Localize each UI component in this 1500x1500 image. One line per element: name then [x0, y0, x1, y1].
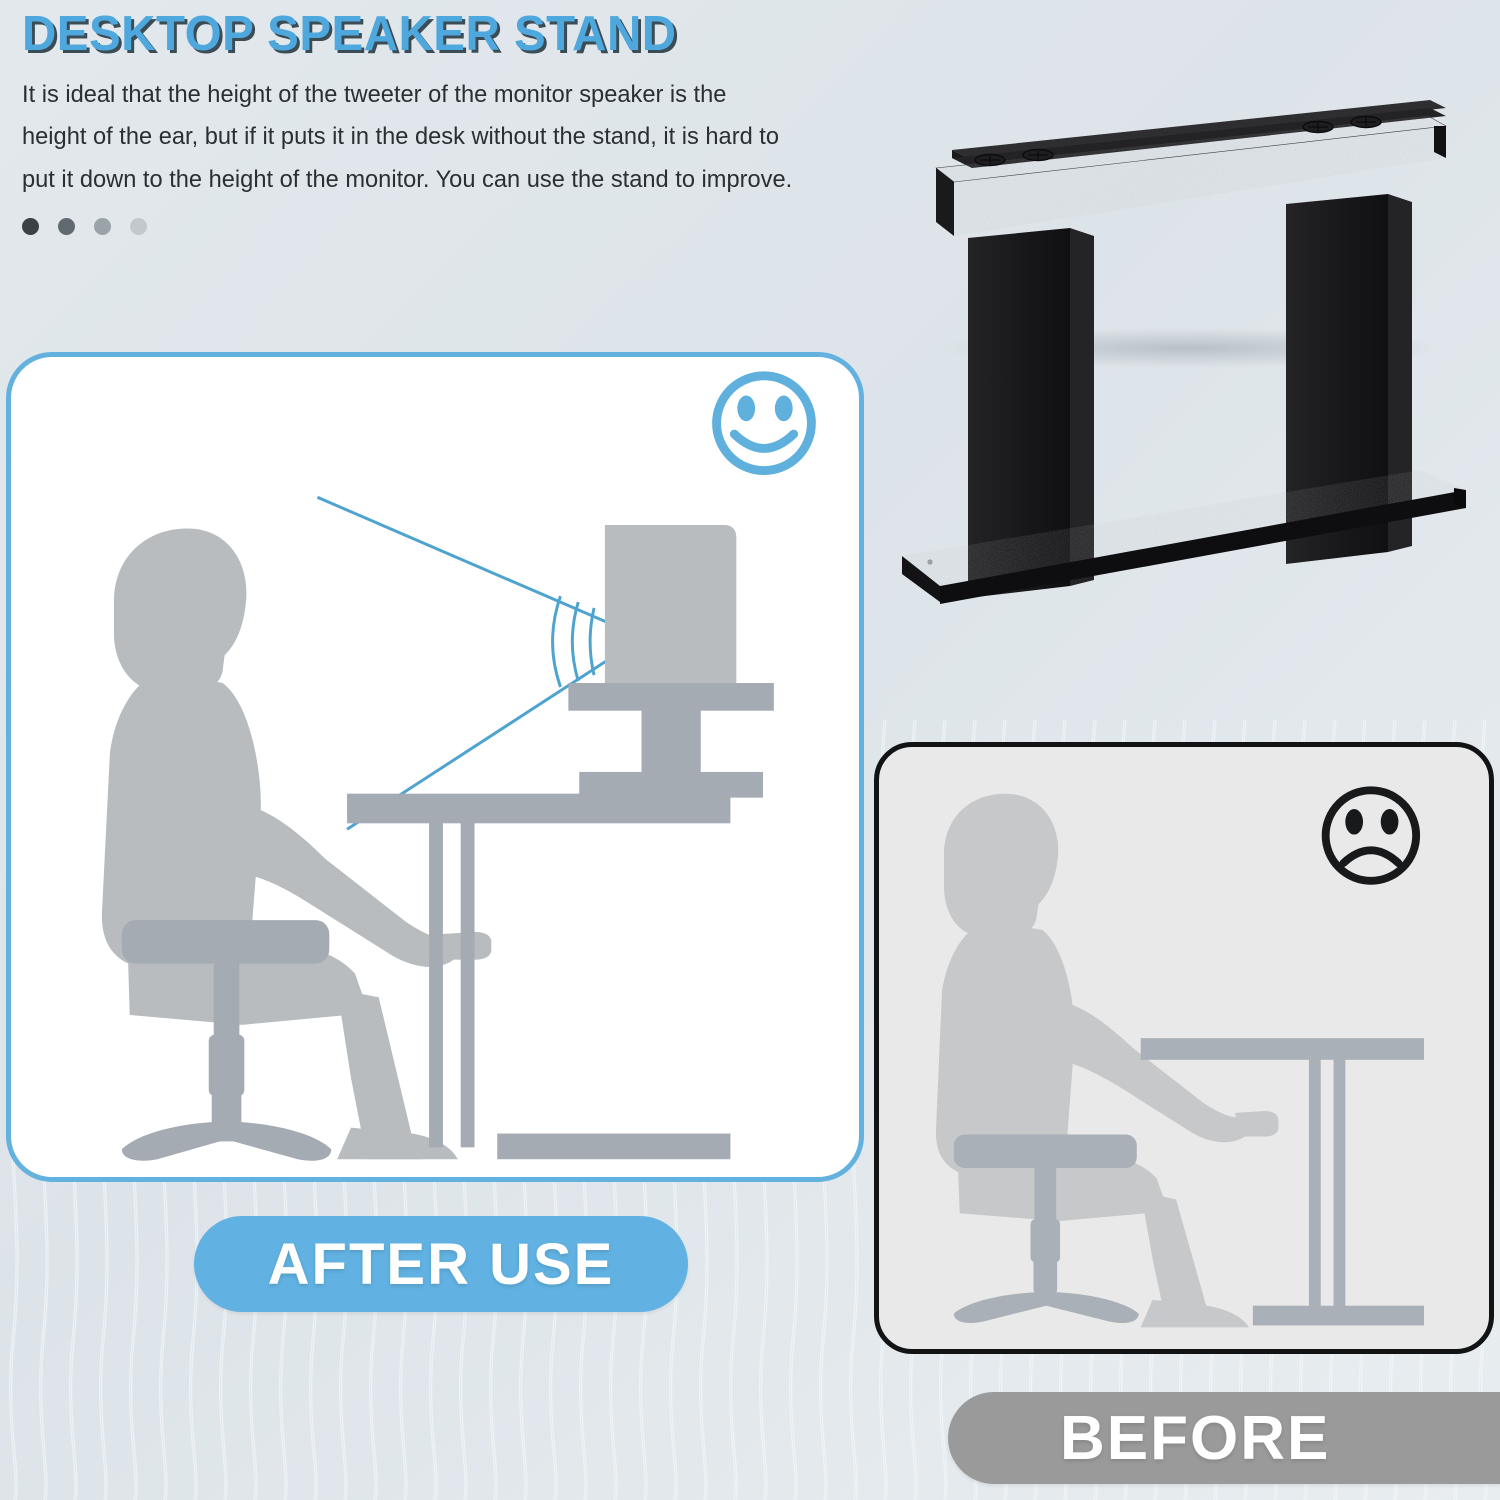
before-badge[interactable]: BEFORE: [948, 1392, 1500, 1484]
office-chair: [954, 1135, 1139, 1323]
pagination-dots[interactable]: [22, 218, 842, 235]
header: DESKTOP SPEAKER STAND It is ideal that t…: [22, 6, 842, 235]
before-illustration: [879, 747, 1489, 1349]
sad-face-icon: [1326, 790, 1416, 880]
pagination-dot-2[interactable]: [58, 218, 75, 235]
office-chair: [122, 920, 331, 1161]
desk: [347, 794, 730, 1160]
smiley-face-icon: [717, 376, 812, 471]
pagination-dot-3[interactable]: [94, 218, 111, 235]
pagination-dot-1[interactable]: [22, 218, 39, 235]
page-title: DESKTOP SPEAKER STAND: [22, 6, 817, 62]
speaker-on-stand: [568, 525, 773, 817]
product-image-speaker-stand: [868, 86, 1498, 726]
pagination-dot-4[interactable]: [130, 218, 147, 235]
speaker-stand-illustration: [868, 86, 1498, 726]
after-use-badge-label: AFTER USE: [268, 1231, 615, 1298]
person-silhouette: [936, 794, 1279, 1328]
soundwave-lines: [317, 497, 605, 829]
after-use-panel: [6, 352, 864, 1182]
intro-paragraph: It is ideal that the height of the tweet…: [22, 74, 794, 200]
before-badge-label: BEFORE: [1060, 1403, 1330, 1474]
before-panel: [874, 742, 1494, 1354]
after-use-illustration: [11, 357, 859, 1177]
after-use-badge[interactable]: AFTER USE: [194, 1216, 688, 1312]
